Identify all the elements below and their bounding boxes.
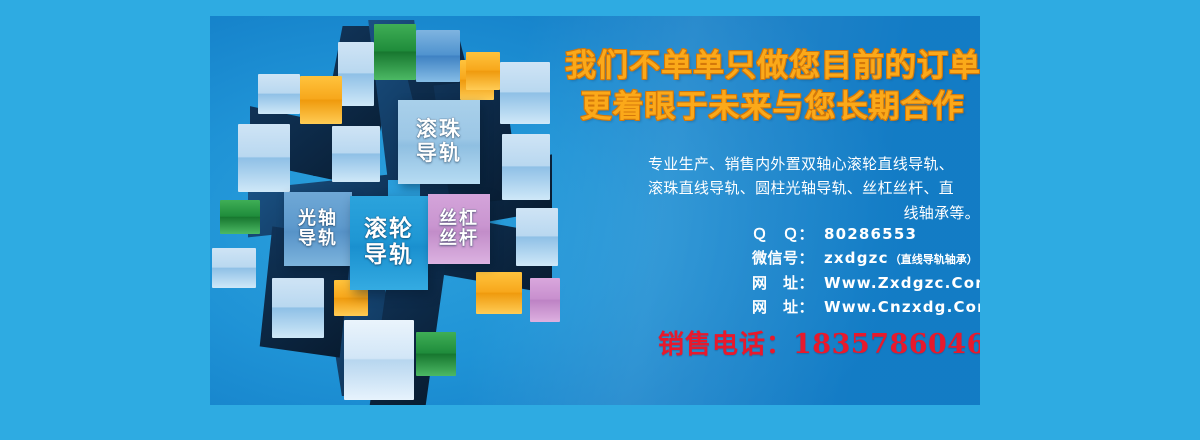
cube (272, 278, 324, 338)
product-label-line1: 滚轮 (364, 217, 414, 243)
product-label-line2: 导轨 (364, 243, 414, 269)
cube (220, 200, 260, 234)
cube (374, 24, 416, 80)
cube-face (516, 208, 558, 266)
cube-face (466, 52, 500, 90)
cube (476, 272, 522, 314)
cube (416, 30, 460, 82)
cube-face (220, 200, 260, 234)
contact-value-qq[interactable]: 80286553 (824, 222, 917, 246)
cube (344, 320, 414, 400)
description-text: 专业生产、销售内外置双轴心滚轮直线导轨、 滚珠直线导轨、圆柱光轴导轨、丝杠丝杆、… (622, 152, 980, 225)
headline-line-1: 我们不单单只做您目前的订单 (565, 46, 980, 87)
contact-label: Ｑ Ｑ： (752, 222, 824, 246)
cube (300, 76, 342, 124)
cube (416, 332, 456, 376)
product-label-line1: 光轴 (298, 209, 338, 229)
contact-value-website-1[interactable]: Www.Zxdgzc.Com (824, 271, 980, 295)
product-label-guangzhou-daogui: 光轴 导轨 (284, 192, 352, 266)
headline: 我们不单单只做您目前的订单 更着眼于未来与您长期合作 (565, 46, 980, 128)
cube-face (212, 248, 256, 288)
cube-face (258, 74, 300, 114)
product-label-gunzhu-daogui: 滚珠 导轨 (398, 100, 480, 184)
cube (500, 62, 550, 124)
cube-face (238, 124, 290, 192)
sales-phone-number[interactable]: 18357860469 (793, 329, 980, 360)
cube (238, 124, 290, 192)
cube (466, 52, 500, 90)
sales-phone[interactable]: 销售电话：18357860469 (658, 324, 980, 361)
contact-label: 网 址： (752, 295, 824, 319)
product-label-line1: 滚珠 (416, 118, 462, 142)
promo-banner: 滚珠 导轨 光轴 导轨 滚轮 导轨 丝杠 丝杆 我们不单单只做您目前的订单 更着… (0, 0, 1200, 440)
cube (530, 278, 560, 322)
contact-row-website-2: 网 址： Www.Cnzxdg.Com (752, 295, 980, 319)
cube (258, 74, 300, 114)
cube (332, 126, 380, 182)
contact-label: 微信号： (752, 246, 824, 270)
contact-row-qq: Ｑ Ｑ： 80286553 (752, 222, 980, 246)
cube-face (272, 278, 324, 338)
product-label-line2: 导轨 (298, 229, 338, 249)
cube (502, 134, 550, 200)
exploding-cubes-graphic: 滚珠 导轨 光轴 导轨 滚轮 导轨 丝杠 丝杆 (210, 16, 560, 405)
cube (338, 42, 374, 106)
product-label-line2: 导轨 (416, 142, 462, 166)
product-label-gunlun-daogui: 滚轮 导轨 (350, 196, 428, 290)
cube-face (344, 320, 414, 400)
cube-face (476, 272, 522, 314)
cube-face (530, 278, 560, 322)
contact-label: 网 址： (752, 271, 824, 295)
product-label-line2: 丝杆 (439, 229, 479, 249)
contact-block: Ｑ Ｑ： 80286553 微信号： zxdgzc （直线导轨轴承） 网 址： … (752, 222, 980, 319)
cube-face (374, 24, 416, 80)
cube-face (338, 42, 374, 106)
contact-row-wechat: 微信号： zxdgzc （直线导轨轴承） (752, 246, 980, 270)
cube-face (502, 134, 550, 200)
cube-face (416, 332, 456, 376)
headline-line-2: 更着眼于未来与您长期合作 (565, 87, 980, 128)
product-label-line1: 丝杠 (439, 209, 479, 229)
cube-face (500, 62, 550, 124)
description-line-1: 专业生产、销售内外置双轴心滚轮直线导轨、 (622, 152, 980, 176)
cube-face (332, 126, 380, 182)
product-label-sigang-sigan: 丝杠 丝杆 (428, 194, 490, 264)
banner-panel: 滚珠 导轨 光轴 导轨 滚轮 导轨 丝杠 丝杆 我们不单单只做您目前的订单 更着… (210, 16, 980, 405)
contact-note-wechat: （直线导轨轴承） (890, 251, 978, 269)
description-line-2: 滚珠直线导轨、圆柱光轴导轨、丝杠丝杆、直 (622, 176, 980, 200)
contact-row-website-1: 网 址： Www.Zxdgzc.Com (752, 271, 980, 295)
contact-value-website-2[interactable]: Www.Cnzxdg.Com (824, 295, 980, 319)
sales-phone-label: 销售电话： (658, 330, 793, 360)
contact-value-wechat[interactable]: zxdgzc (824, 246, 889, 270)
cube (212, 248, 256, 288)
cube (516, 208, 558, 266)
cube-face (416, 30, 460, 82)
cube-face (300, 76, 342, 124)
